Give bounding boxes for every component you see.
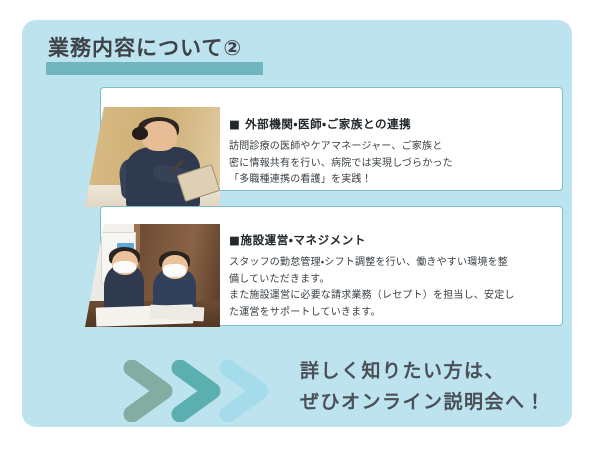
card-one-title: ■ 外部機関・医師・ご家族との連携 [229, 116, 549, 132]
nurse-with-tablet-photo [85, 107, 220, 207]
title-highlight-bar [46, 62, 263, 75]
chevron-right-icon-3 [218, 360, 278, 422]
card-one-body-line: 「多職種連携の看護」を実践！ [229, 172, 549, 189]
card-two-body-line: また施設運営に必要な請求業務（レセプト）を担当し、安定し [229, 288, 551, 305]
card-two-title: ■施設運営・マネジメント [229, 232, 551, 248]
call-to-action-text: 詳しく知りたい方は、 ぜひオンライン説明会へ！ [300, 356, 546, 418]
page-title-text: 業務内容について② [46, 38, 242, 59]
cta-line: 詳しく知りたい方は、 [300, 356, 546, 387]
card-two-text: ■施設運営・マネジメント スタッフの勤怠管理・シフト調整を行い、働きやすい環境を… [229, 232, 551, 321]
photo-staff-b-mask [163, 264, 186, 276]
cta-line: ぜひオンライン説明会へ！ [300, 387, 546, 418]
card-one-bullet-icon: ■ [229, 117, 240, 131]
page-title: 業務内容について② [46, 38, 242, 78]
card-two-body-line: スタッフの勤怠管理・シフト調整を行い、働きやすい環境を整 [229, 255, 551, 272]
card-two-body-line: 備していただきます。 [229, 272, 551, 289]
slide-panel: 業務内容について② ■ 外部機関・医師・ご家族との連携 訪問診療の医師やケアマネ… [22, 20, 572, 427]
card-two-body-line: た運営をサポートしていきます。 [229, 305, 551, 322]
staff-at-desk-photo [85, 224, 220, 327]
card-one-body-line: 訪問診療の医師やケアマネージャー、ご家族と [229, 139, 549, 156]
photo-staff-a-mask [113, 261, 136, 273]
card-two-bullet-icon: ■ [229, 233, 240, 247]
card-one-text: ■ 外部機関・医師・ご家族との連携 訪問診療の医師やケアマネージャー、ご家族と … [229, 116, 549, 189]
chevron-arrow-group [122, 360, 282, 422]
card-one-body-line: 密に情報共有を行い、病院では実現しづらかった [229, 156, 549, 173]
call-to-action-row: 詳しく知りたい方は、 ぜひオンライン説明会へ！ [122, 356, 572, 426]
card-one-title-text: 外部機関・医師・ご家族との連携 [245, 117, 411, 131]
card-two-title-text: 施設運営・マネジメント [240, 233, 366, 247]
